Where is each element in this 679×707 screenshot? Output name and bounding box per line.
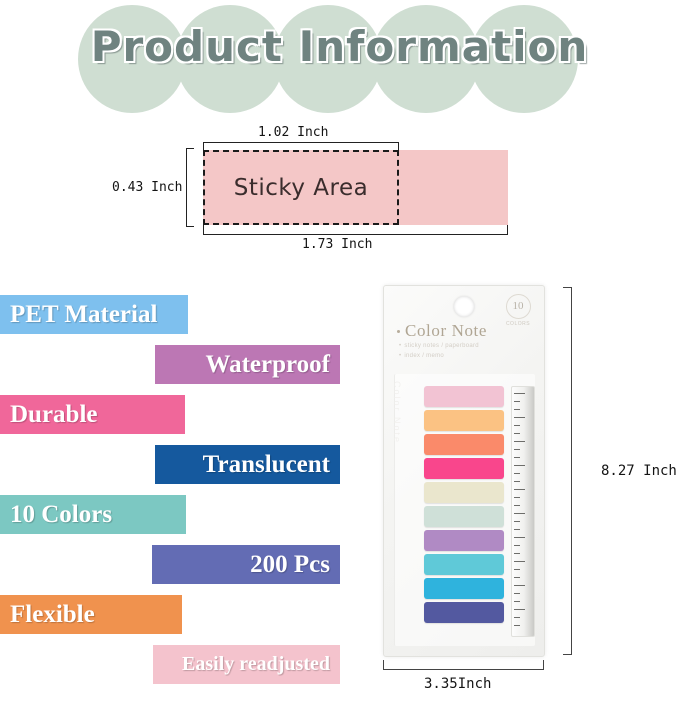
feature-bar-label: Waterproof — [205, 351, 330, 379]
bullet-dot-icon — [397, 330, 400, 333]
color-strip — [424, 410, 504, 431]
sticky-note-strip-stack — [424, 386, 504, 626]
color-count-badge: 10 COLORS — [503, 294, 533, 328]
ruler-tick — [514, 625, 520, 626]
page-title: Product Information — [0, 22, 679, 71]
dimension-label-package-width: 3.35Inch — [424, 676, 491, 692]
dimension-label-bottom: 1.73 Inch — [302, 237, 372, 252]
ruler-tick — [514, 529, 520, 530]
package-subline: index / memo — [399, 353, 444, 359]
feature-bar: Durable — [0, 395, 185, 434]
ruler-tick — [514, 617, 520, 618]
ruler-tick — [514, 537, 525, 538]
ruler-tick — [514, 441, 525, 442]
ruler-tick — [514, 577, 520, 578]
feature-bar: Translucent — [155, 445, 340, 484]
color-strip — [424, 482, 504, 503]
color-strip — [424, 554, 504, 575]
ruler-tick — [514, 417, 525, 418]
feature-bar-label: Flexible — [10, 601, 95, 629]
ruler-tick — [514, 561, 525, 562]
color-strip — [424, 386, 504, 407]
ruler-tick — [514, 521, 520, 522]
ruler-tick — [514, 489, 525, 490]
feature-bar: Easily readjusted — [153, 645, 340, 684]
ruler-tick — [514, 433, 520, 434]
sticky-area-dashed-box: Sticky Area — [203, 150, 399, 225]
product-package-image: 10 COLORS Color Note sticky notes / pape… — [383, 285, 545, 657]
dimension-label-package-height: 8.27 Inch — [601, 463, 677, 479]
ruler-tick — [514, 409, 520, 410]
color-strip — [424, 602, 504, 623]
color-strip — [424, 578, 504, 599]
feature-bar-label: Easily readjusted — [182, 653, 330, 676]
feature-bar-label: PET Material — [10, 301, 157, 329]
dimension-bracket-package-height — [563, 287, 572, 655]
ruler-graphic — [511, 386, 535, 637]
ruler-tick — [514, 593, 520, 594]
color-strip — [424, 530, 504, 551]
ruler-tick — [514, 481, 520, 482]
ruler-tick — [514, 457, 520, 458]
dimension-bracket-top — [203, 142, 399, 150]
dimension-bracket-bottom — [203, 225, 508, 235]
ruler-tick — [514, 513, 525, 514]
ruler-tick — [514, 497, 520, 498]
badge-sublabel: COLORS — [503, 321, 533, 327]
package-subline: sticky notes / paperboard — [399, 343, 479, 349]
ruler-tick — [514, 553, 520, 554]
color-strip — [424, 434, 504, 455]
ruler-tick — [514, 401, 520, 402]
dimension-bracket-left — [186, 148, 194, 227]
ruler-tick — [514, 505, 520, 506]
ruler-tick — [514, 601, 520, 602]
ruler-tick — [514, 569, 520, 570]
package-brand-name: Color Note — [405, 321, 487, 341]
dimension-label-left: 0.43 Inch — [112, 180, 182, 195]
sticky-area-label: Sticky Area — [234, 175, 369, 201]
package-brand-row: Color Note — [397, 321, 487, 341]
color-strip — [424, 458, 504, 479]
hang-hole-icon — [454, 296, 475, 317]
header-band: Product Information — [0, 0, 679, 118]
feature-list: PET MaterialWaterproofDurableTranslucent… — [0, 295, 350, 685]
feature-bar-label: Translucent — [203, 451, 330, 479]
ruler-tick — [514, 585, 525, 586]
ruler-tick — [514, 609, 525, 610]
feature-bar: PET Material — [0, 295, 188, 334]
feature-bar: Waterproof — [155, 345, 340, 384]
feature-bar-label: 10 Colors — [10, 501, 112, 529]
ruler-tick — [514, 545, 520, 546]
package-side-text: Color Note — [386, 381, 402, 636]
color-strip — [424, 506, 504, 527]
dimension-label-top: 1.02 Inch — [258, 125, 328, 140]
ruler-tick — [514, 449, 520, 450]
feature-bar-label: Durable — [10, 401, 98, 429]
ruler-tick — [514, 393, 525, 394]
feature-bar: 200 Pcs — [152, 545, 340, 584]
badge-number: 10 — [506, 294, 531, 319]
ruler-tick — [514, 425, 520, 426]
feature-bar-label: 200 Pcs — [250, 551, 330, 579]
ruler-tick — [514, 473, 520, 474]
ruler-tick — [514, 465, 525, 466]
sticky-area-diagram: Sticky Area 1.02 Inch 0.43 Inch 1.73 Inc… — [0, 120, 679, 265]
feature-bar: Flexible — [0, 595, 182, 634]
feature-bar: 10 Colors — [0, 495, 186, 534]
dimension-bracket-package-width — [383, 660, 544, 670]
